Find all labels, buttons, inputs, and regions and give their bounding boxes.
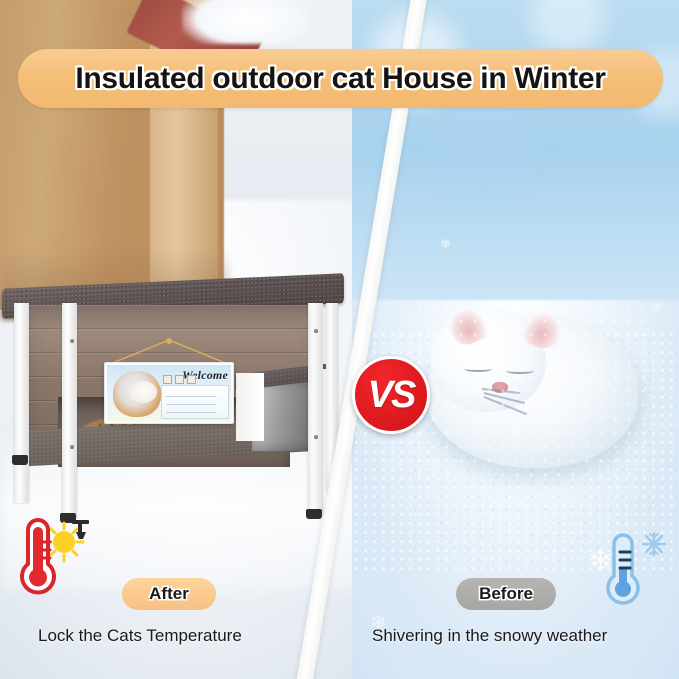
branch-snow xyxy=(182,0,312,44)
screw xyxy=(314,435,318,439)
vs-label: VS xyxy=(368,374,415,417)
blue-thermometer-snowflake-icon xyxy=(600,528,670,614)
snowflake-icon: ❄ xyxy=(440,236,451,252)
sign-icon-square xyxy=(175,375,184,384)
thermometer-body xyxy=(22,520,54,592)
page-title: Insulated outdoor cat House in Winter xyxy=(75,62,605,96)
screw xyxy=(70,339,74,343)
snow-on-fur xyxy=(412,300,652,485)
thermometer-body xyxy=(608,535,638,603)
screw xyxy=(314,329,318,333)
before-caption: Shivering in the snowy weather xyxy=(372,626,607,646)
sign-icon-square xyxy=(163,375,172,384)
before-pill-label: Before xyxy=(479,584,533,604)
house-foot xyxy=(12,455,28,465)
sign-note-line xyxy=(166,404,216,405)
house-foot xyxy=(306,509,322,519)
red-thermometer-sun-icon xyxy=(6,518,92,600)
after-pill: After xyxy=(122,578,216,610)
sign-small-icons xyxy=(163,375,196,384)
title-banner: Insulated outdoor cat House in Winter xyxy=(18,49,663,108)
frame-post-inner-left xyxy=(62,303,77,518)
after-pill-label: After xyxy=(149,584,189,604)
vs-badge: VS xyxy=(352,356,430,434)
product-infographic: Welcome xyxy=(0,0,679,679)
sign-icon-square xyxy=(187,375,196,384)
entrance-left-frame xyxy=(236,373,264,441)
frame-post-left xyxy=(14,303,29,503)
snowflake-icon xyxy=(643,533,665,555)
sign-cartoon-cat-icon xyxy=(113,371,161,417)
sign-note-line xyxy=(166,412,216,413)
sign-note-area xyxy=(161,385,229,419)
sign-cat-face xyxy=(129,381,157,403)
before-pill: Before xyxy=(456,578,556,610)
sign-note-line xyxy=(166,396,216,397)
snowflake-icon: ❄ xyxy=(652,300,662,314)
sign-board: Welcome xyxy=(104,362,234,424)
welcome-sign: Welcome xyxy=(104,338,234,410)
screw xyxy=(70,445,74,449)
after-caption: Lock the Cats Temperature xyxy=(38,626,242,646)
sleeping-white-cat xyxy=(412,300,652,485)
frame-post-right xyxy=(308,303,323,515)
